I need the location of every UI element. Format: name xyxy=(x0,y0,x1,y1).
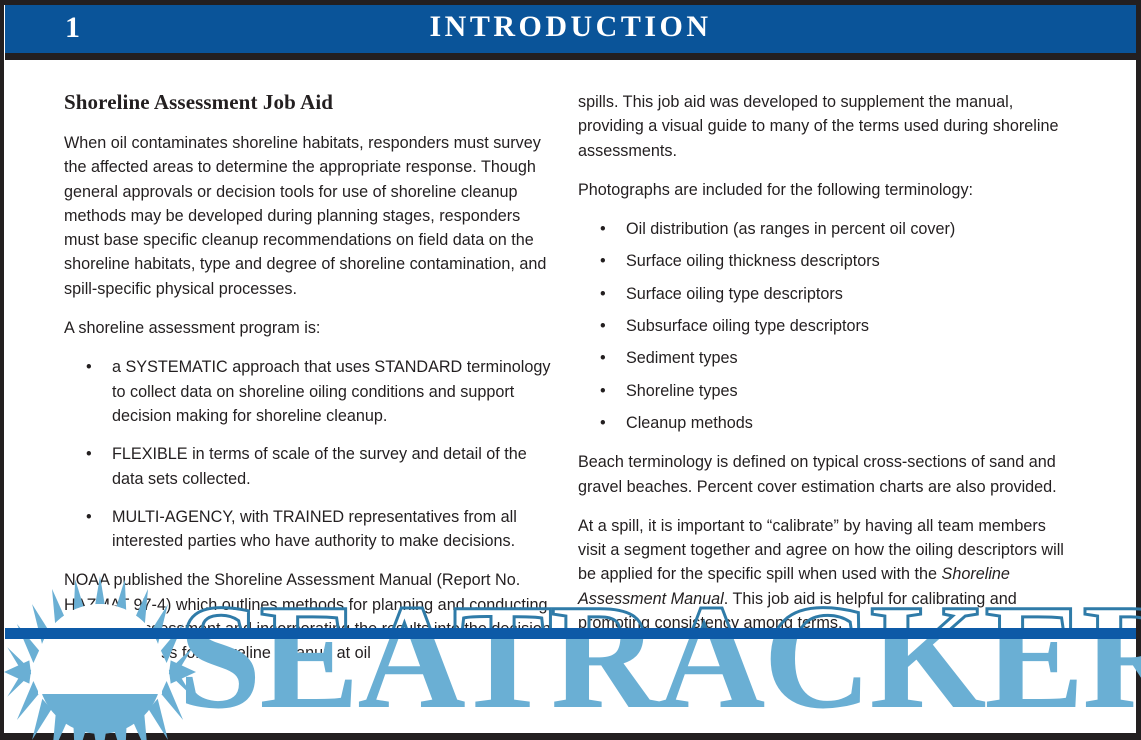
bullet-icon: • xyxy=(600,314,606,338)
paragraph: spills. This job aid was developed to su… xyxy=(578,90,1072,163)
list-item-label: Oil distribution (as ranges in percent o… xyxy=(626,220,955,238)
list-item: • FLEXIBLE in terms of scale of the surv… xyxy=(64,442,558,491)
bullet-icon: • xyxy=(600,249,606,273)
list-item: • Surface oiling type descriptors xyxy=(578,282,1072,306)
list-item-label: Cleanup methods xyxy=(626,414,753,432)
list-item: • a SYSTEMATIC approach that uses STANDA… xyxy=(64,355,558,428)
right-bullet-list: • Oil distribution (as ranges in percent… xyxy=(578,217,1072,435)
list-item-label: MULTI-AGENCY, with TRAINED representativ… xyxy=(112,508,517,550)
list-item: • Sediment types xyxy=(578,346,1072,370)
paragraph: A shoreline assessment program is: xyxy=(64,316,558,340)
list-item: • Shoreline types xyxy=(578,379,1072,403)
list-item: • Oil distribution (as ranges in percent… xyxy=(578,217,1072,241)
bullet-icon: • xyxy=(600,346,606,370)
list-item-label: Surface oiling thickness descriptors xyxy=(626,252,880,270)
left-column: Shoreline Assessment Job Aid When oil co… xyxy=(64,90,558,666)
left-bullet-list: • a SYSTEMATIC approach that uses STANDA… xyxy=(64,355,558,553)
list-item-label: Surface oiling type descriptors xyxy=(626,285,843,303)
paragraph: When oil contaminates shoreline habitats… xyxy=(64,131,558,301)
bullet-icon: • xyxy=(600,379,606,403)
right-column: spills. This job aid was developed to su… xyxy=(578,90,1072,635)
bullet-icon: • xyxy=(600,217,606,241)
bullet-icon: • xyxy=(86,442,92,466)
list-item: • Surface oiling thickness descriptors xyxy=(578,249,1072,273)
list-item: • MULTI-AGENCY, with TRAINED representat… xyxy=(64,505,558,554)
bullet-icon: • xyxy=(86,505,92,529)
section-heading: Shoreline Assessment Job Aid xyxy=(64,90,558,115)
list-item-label: a SYSTEMATIC approach that uses STANDARD… xyxy=(112,358,550,425)
paragraph: At a spill, it is important to “calibrat… xyxy=(578,514,1072,635)
list-item: • Subsurface oiling type descriptors xyxy=(578,314,1072,338)
list-item-label: Sediment types xyxy=(626,349,738,367)
list-item-label: Shoreline types xyxy=(626,382,738,400)
bullet-icon: • xyxy=(600,411,606,435)
paragraph: NOAA published the Shoreline Assessment … xyxy=(64,568,558,665)
document-page: 1 INTRODUCTION Shoreline Assessment Job … xyxy=(0,0,1141,740)
paragraph: Beach terminology is defined on typical … xyxy=(578,450,1072,499)
list-item-label: Subsurface oiling type descriptors xyxy=(626,317,869,335)
bullet-icon: • xyxy=(600,282,606,306)
bullet-icon: • xyxy=(86,355,92,379)
paragraph: Photographs are included for the followi… xyxy=(578,178,1072,202)
list-item-label: FLEXIBLE in terms of scale of the survey… xyxy=(112,445,527,487)
page-title: INTRODUCTION xyxy=(0,8,1141,46)
page-content: Shoreline Assessment Job Aid When oil co… xyxy=(0,60,1141,735)
chapter-header-rule xyxy=(5,53,1136,60)
list-item: • Cleanup methods xyxy=(578,411,1072,435)
